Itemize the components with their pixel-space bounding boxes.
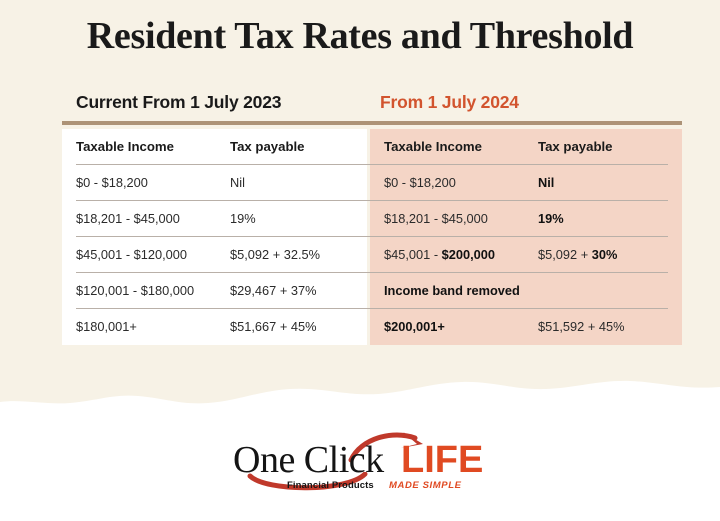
- header-left-tax-payable: Tax payable: [230, 129, 305, 165]
- cell-left-income: $120,001 - $180,000: [76, 273, 194, 309]
- header-right-taxable-income: Taxable Income: [384, 129, 482, 165]
- torn-paper-edge-icon: [0, 372, 720, 420]
- cell-left-tax: $51,667 + 45%: [230, 309, 316, 345]
- cell-right-income-highlight: $200,001+: [384, 309, 445, 345]
- logo-wordmark-life: LIFE: [401, 439, 483, 482]
- cell-left-tax: $5,092 + 32.5%: [230, 237, 320, 273]
- heading-current-2023: Current From 1 July 2023: [76, 92, 281, 113]
- heading-divider-rule: [62, 121, 682, 125]
- cell-right-tax: $51,592 + 45%: [538, 309, 624, 345]
- heading-from-2024: From 1 July 2024: [380, 92, 519, 113]
- cell-right-tax-highlight: 30%: [592, 247, 618, 262]
- cell-right-tax-prefix: $5,092 +: [538, 247, 592, 262]
- header-left-taxable-income: Taxable Income: [76, 129, 174, 165]
- table-header-row: Taxable Income Tax payable Taxable Incom…: [62, 129, 682, 165]
- cell-left-income: $180,001+: [76, 309, 137, 345]
- cell-right-income-highlight: $200,000: [442, 247, 495, 262]
- one-click-life-logo: One Click LIFE Financial Products MADE S…: [229, 436, 499, 498]
- tax-rates-table: Taxable Income Tax payable Taxable Incom…: [62, 129, 682, 345]
- cell-right-income: $0 - $18,200: [384, 165, 456, 201]
- table-row: $0 - $18,200 Nil $0 - $18,200 Nil: [62, 165, 682, 201]
- cell-left-income: $0 - $18,200: [76, 165, 148, 201]
- table-row: $180,001+ $51,667 + 45% $200,001+ $51,59…: [62, 309, 682, 345]
- header-right-tax-payable: Tax payable: [538, 129, 613, 165]
- logo-wordmark-one-click: One Click: [233, 438, 384, 482]
- cell-right-tax-bold: Nil: [538, 165, 554, 201]
- cell-left-tax: Nil: [230, 165, 245, 201]
- cell-right-income: $45,001 - $200,000: [384, 237, 495, 273]
- cell-right-income: $18,201 - $45,000: [384, 201, 488, 237]
- cell-right-merged-note: Income band removed: [384, 273, 520, 309]
- logo-tagline-made-simple: MADE SIMPLE: [389, 480, 462, 491]
- cell-left-income: $45,001 - $120,000: [76, 237, 187, 273]
- cell-left-tax: 19%: [230, 201, 256, 237]
- table-row: $45,001 - $120,000 $5,092 + 32.5% $45,00…: [62, 237, 682, 273]
- cell-left-income: $18,201 - $45,000: [76, 201, 180, 237]
- cell-right-tax-bold: 19%: [538, 201, 564, 237]
- cell-left-tax: $29,467 + 37%: [230, 273, 316, 309]
- infographic-canvas: Resident Tax Rates and Threshold Current…: [0, 0, 720, 521]
- cell-right-income-prefix: $45,001 -: [384, 247, 442, 262]
- page-title: Resident Tax Rates and Threshold: [0, 14, 720, 58]
- section-headings: Current From 1 July 2023 From 1 July 202…: [62, 92, 682, 116]
- cell-right-tax: $5,092 + 30%: [538, 237, 617, 273]
- table-row: $120,001 - $180,000 $29,467 + 37% Income…: [62, 273, 682, 309]
- table-row: $18,201 - $45,000 19% $18,201 - $45,000 …: [62, 201, 682, 237]
- table-grid: Taxable Income Tax payable Taxable Incom…: [62, 129, 682, 345]
- logo-tagline-financial-products: Financial Products: [287, 480, 374, 491]
